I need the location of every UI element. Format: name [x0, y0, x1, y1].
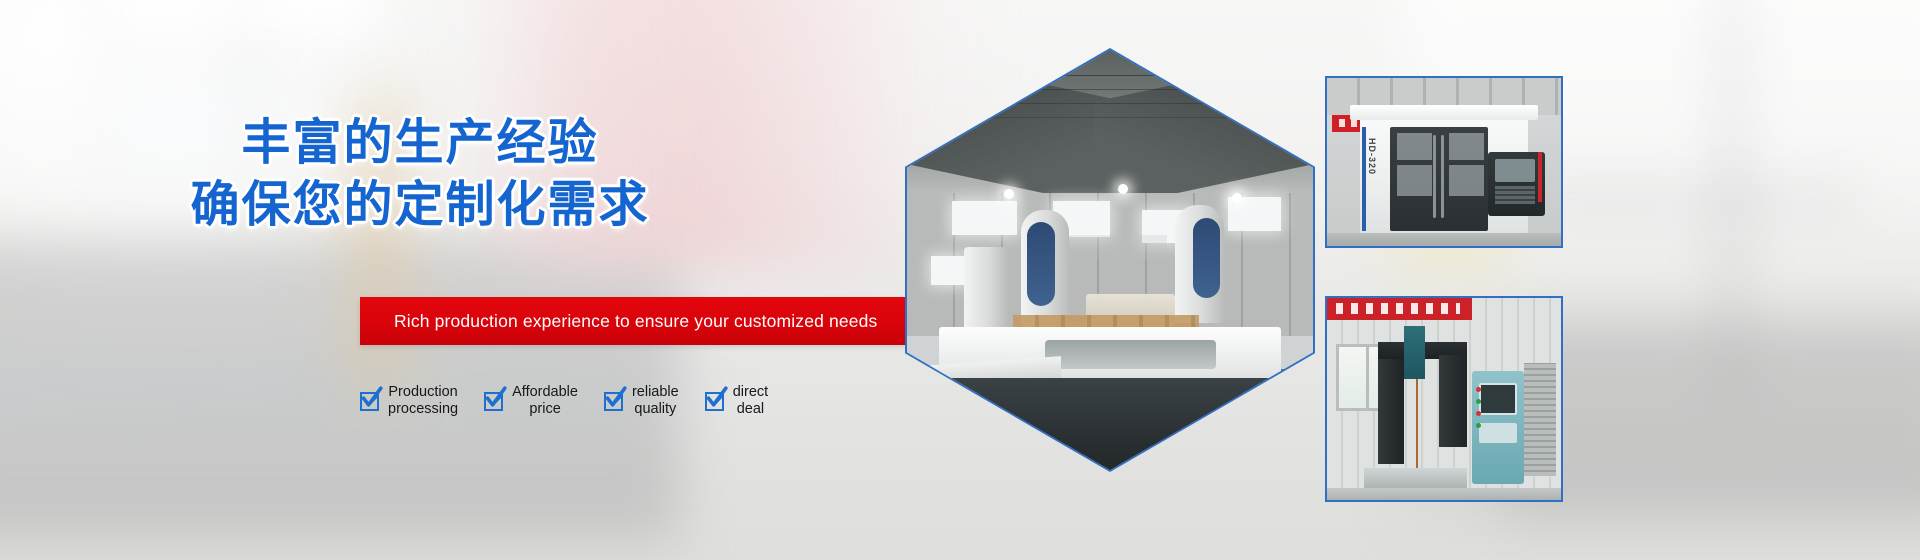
thumb-gantry-edm[interactable] — [1325, 296, 1563, 502]
machining-centre-door-window — [1449, 133, 1484, 160]
feature-item-affordable-price[interactable]: Affordable price — [484, 384, 578, 418]
cnc-screen — [1495, 159, 1535, 183]
subtitle-text: Rich production experience to ensure you… — [360, 311, 877, 332]
feature-list: Production processing Affordable price — [360, 370, 906, 432]
machining-centre-top-beam — [1350, 105, 1537, 120]
checkbox-checked-icon[interactable] — [484, 392, 503, 411]
machining-centre-door-window — [1397, 133, 1432, 160]
factory-window — [931, 256, 968, 285]
feature-label-line-1: Affordable — [512, 384, 578, 401]
feature-label-line-2: quality — [632, 401, 679, 418]
headline-line-2: 确保您的定制化需求 — [0, 174, 840, 236]
thumb-wall-banner — [1327, 298, 1472, 320]
factory-purlins — [948, 75, 1273, 76]
headline-line-1: 丰富的生产经验 — [241, 115, 598, 170]
thumb-floor — [1327, 233, 1561, 246]
feature-label-line-1: reliable — [632, 384, 679, 401]
thumb-machining-centre[interactable]: HD-320 — [1325, 76, 1563, 248]
machine-column-panel — [1193, 218, 1219, 298]
factory-wall-sign — [1061, 235, 1167, 260]
edm-screen — [1479, 383, 1516, 415]
cnc-keypad — [1495, 186, 1535, 204]
edm-button — [1476, 387, 1481, 392]
machine-viewing-window — [1045, 340, 1216, 369]
gantry-column-right — [1439, 355, 1467, 448]
thumb-floor — [1327, 488, 1561, 500]
equipment-rack — [1524, 363, 1557, 476]
checkbox-checked-icon[interactable] — [705, 392, 724, 411]
feature-label-line-1: Production — [388, 384, 458, 401]
factory-window — [952, 201, 1017, 235]
checkbox-checked-icon[interactable] — [604, 392, 623, 411]
feature-item-direct-deal[interactable]: direct deal — [705, 384, 768, 418]
machine-model-label: HD-320 — [1367, 138, 1377, 175]
hexagon-photo-content — [907, 50, 1313, 470]
machine-column-panel — [1027, 222, 1055, 306]
feature-label: direct deal — [733, 384, 768, 418]
copy-column: 丰富的生产经验 确保您的定制化需求 Rich production experi… — [0, 0, 920, 560]
feature-label: reliable quality — [632, 384, 679, 418]
feature-label: Production processing — [388, 384, 458, 418]
factory-lamp — [1232, 193, 1242, 203]
hexagon-factory-photo[interactable] — [905, 48, 1315, 472]
gantry-column-left — [1378, 359, 1404, 464]
feature-label-line-2: processing — [388, 401, 458, 418]
machining-centre-accent-stripe — [1362, 127, 1366, 231]
feature-label-line-2: price — [512, 401, 578, 418]
edm-button — [1476, 399, 1481, 404]
edm-keypad — [1479, 423, 1516, 443]
machining-centre-door-window — [1449, 165, 1484, 195]
factory-floor — [907, 378, 1313, 470]
page-title: 丰富的生产经验 确保您的定制化需求 — [0, 112, 840, 236]
feature-item-production-processing[interactable]: Production processing — [360, 384, 458, 418]
feature-label: Affordable price — [512, 384, 578, 418]
machining-centre-door-window — [1397, 165, 1432, 195]
subtitle-bar: Rich production experience to ensure you… — [360, 297, 906, 345]
feature-label-line-1: direct — [733, 384, 768, 401]
edm-button — [1476, 411, 1481, 416]
cnc-red-accent — [1538, 152, 1542, 202]
edm-head — [1404, 326, 1425, 379]
promo-banner: 丰富的生产经验 确保您的定制化需求 Rich production experi… — [0, 0, 1920, 560]
edm-electrode — [1416, 379, 1418, 476]
checkbox-checked-icon[interactable] — [360, 392, 379, 411]
feature-label-line-2: deal — [733, 401, 768, 418]
edm-button — [1476, 423, 1481, 428]
feature-item-reliable-quality[interactable]: reliable quality — [604, 384, 679, 418]
